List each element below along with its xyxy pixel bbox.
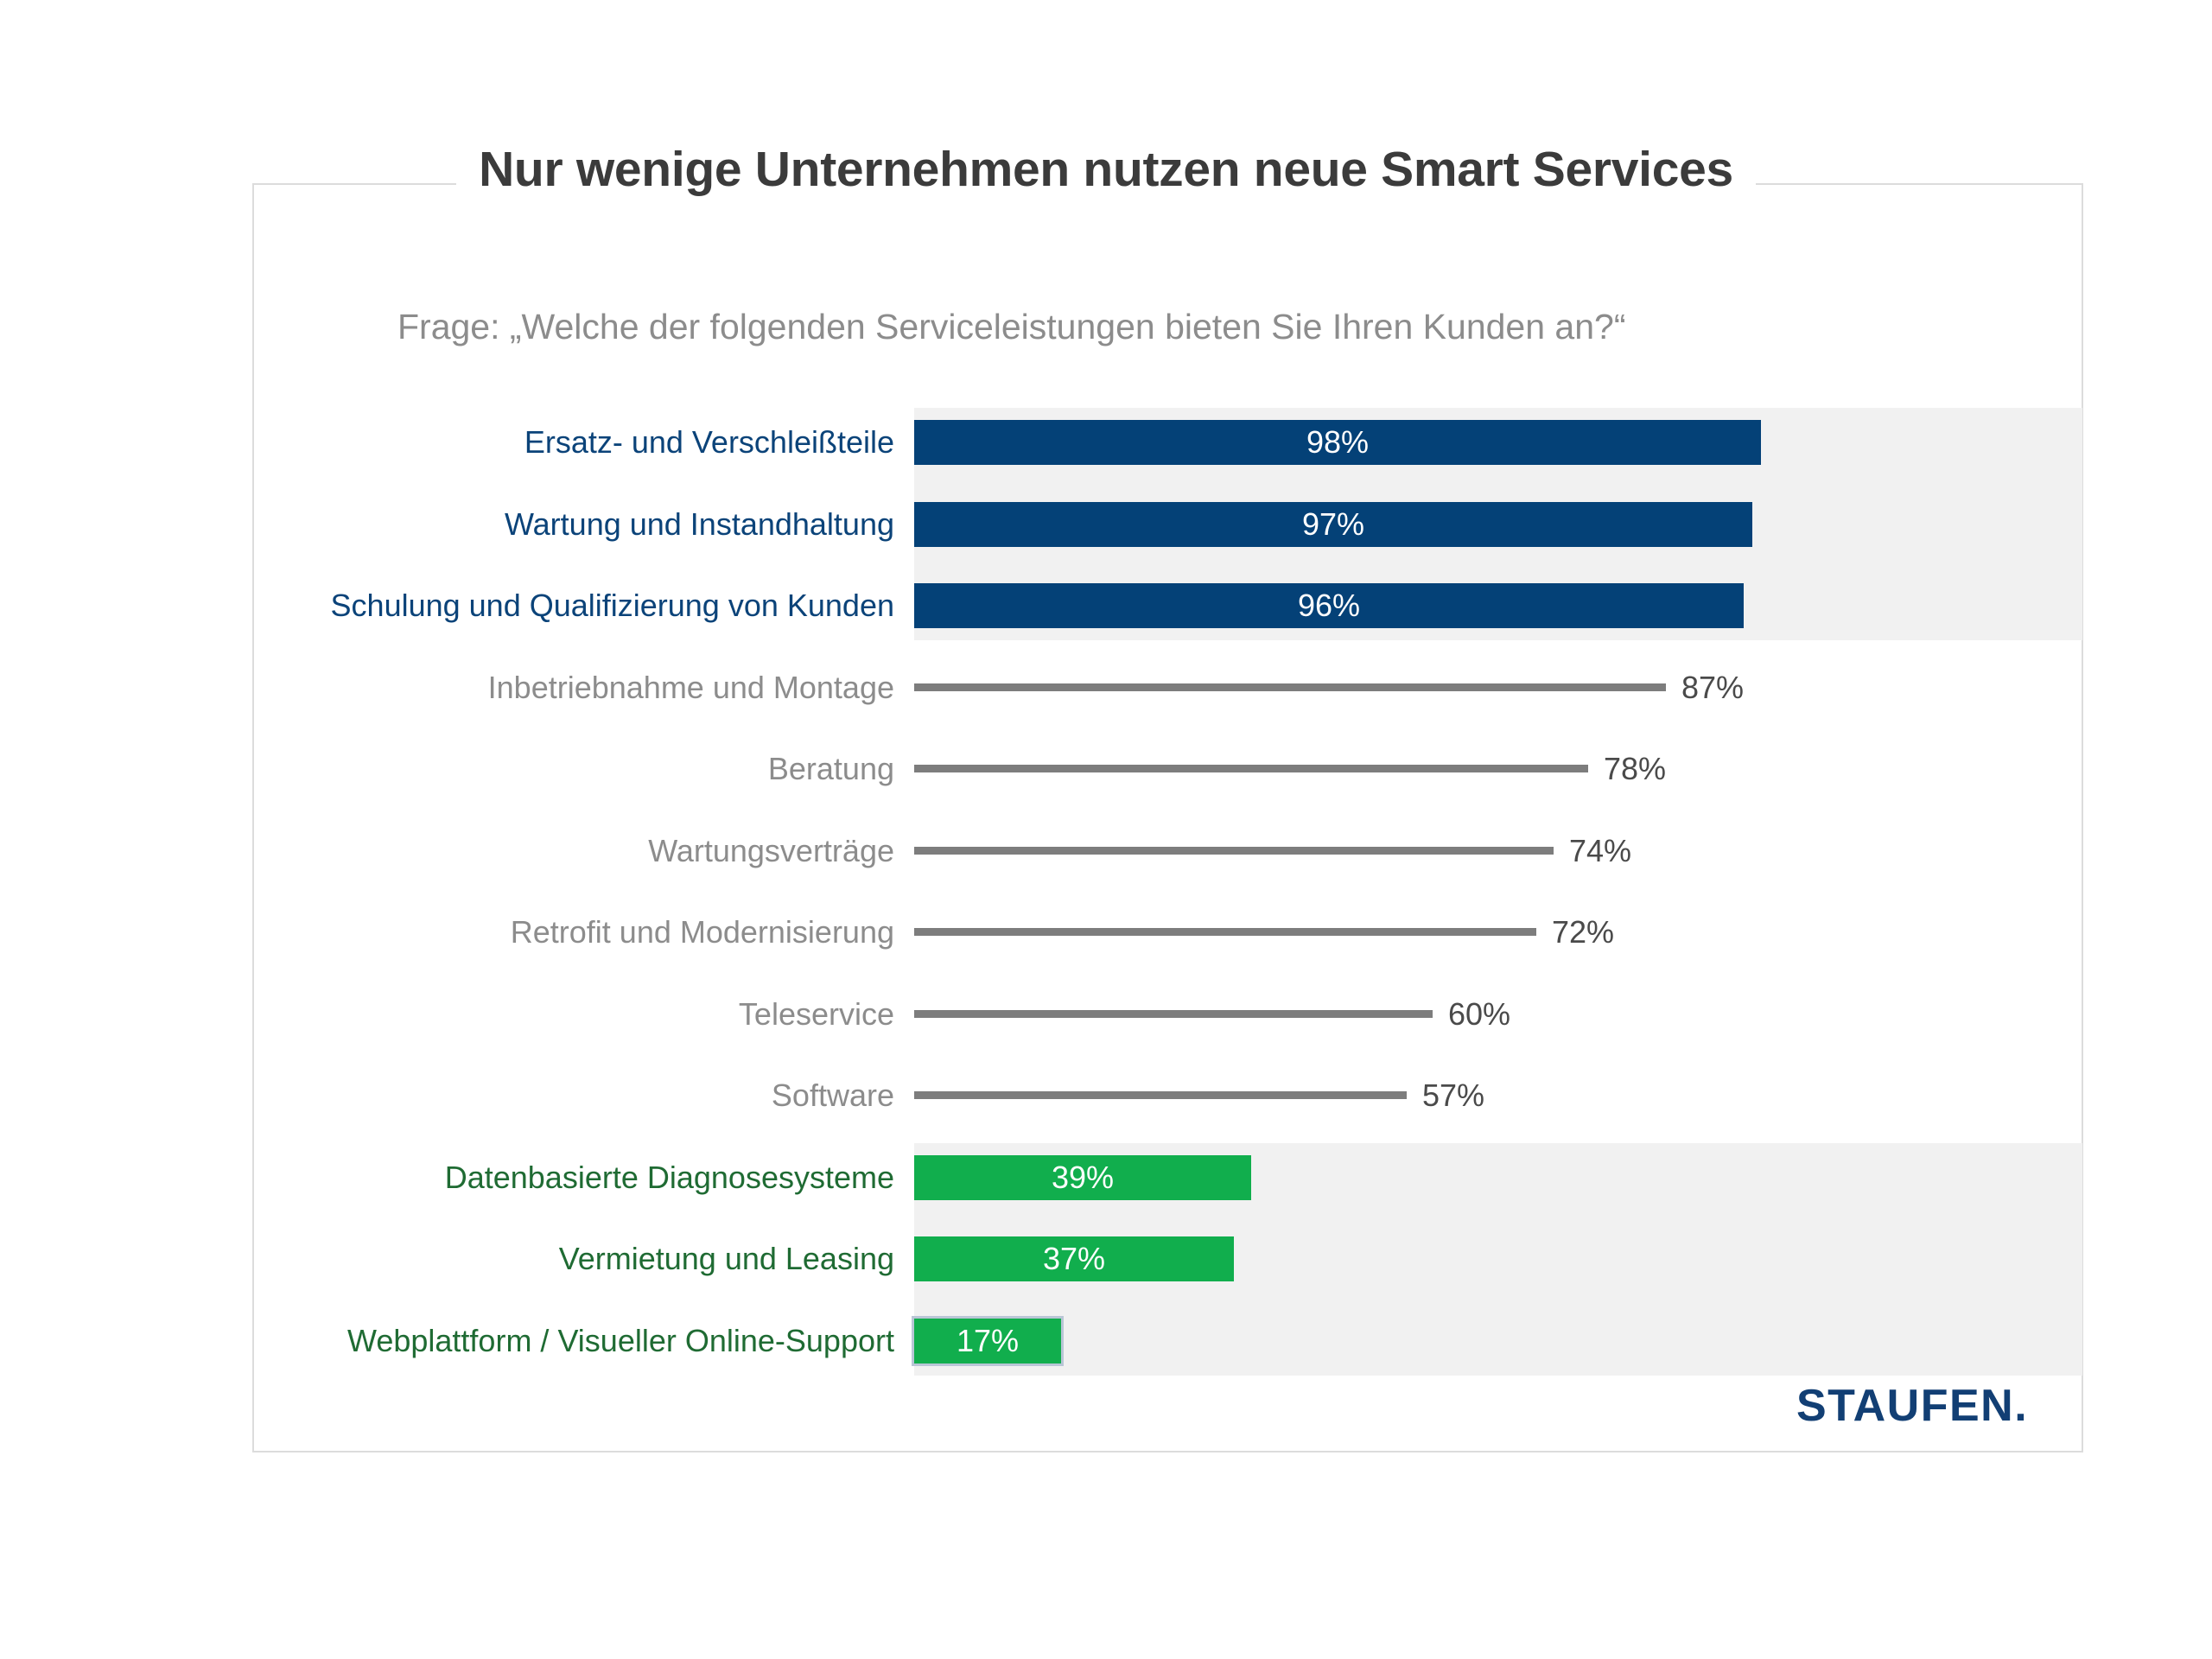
value-label: 98%: [914, 420, 1761, 465]
value-bar[interactable]: 98%: [914, 420, 1761, 465]
value-line: [914, 1091, 1407, 1099]
chart-row[interactable]: Inbetriebnahme und Montage87%: [0, 660, 2212, 715]
category-label: Vermietung und Leasing: [0, 1231, 894, 1287]
category-label: Beratung: [0, 741, 894, 797]
staufen-logo: STAUFEN.: [1796, 1380, 2028, 1432]
value-line: [914, 765, 1588, 772]
value-bar[interactable]: 17%: [914, 1319, 1061, 1363]
category-label: Webplattform / Visueller Online-Support: [0, 1313, 894, 1369]
chart-row[interactable]: Datenbasierte Diagnosesysteme39%: [0, 1150, 2212, 1205]
value-bar[interactable]: 97%: [914, 502, 1752, 547]
category-label: Retrofit und Modernisierung: [0, 905, 894, 960]
category-label: Software: [0, 1068, 894, 1123]
value-bar[interactable]: 39%: [914, 1155, 1251, 1200]
value-label: 78%: [1604, 741, 1666, 797]
category-label: Wartungsverträge: [0, 823, 894, 879]
value-label: 96%: [914, 583, 1744, 628]
value-line: [914, 1010, 1433, 1018]
value-bar[interactable]: 96%: [914, 583, 1744, 628]
value-label: 74%: [1569, 823, 1631, 879]
value-line: [914, 847, 1554, 855]
category-label: Ersatz- und Verschleißteile: [0, 415, 894, 470]
chart-row[interactable]: Webplattform / Visueller Online-Support1…: [0, 1313, 2212, 1369]
chart-row[interactable]: Beratung78%: [0, 741, 2212, 797]
value-label: 72%: [1552, 905, 1614, 960]
chart-row[interactable]: Teleservice60%: [0, 987, 2212, 1042]
value-label: 87%: [1681, 660, 1744, 715]
chart-row[interactable]: Wartung und Instandhaltung97%: [0, 497, 2212, 552]
value-label: 57%: [1422, 1068, 1484, 1123]
chart-row[interactable]: Schulung und Qualifizierung von Kunden96…: [0, 578, 2212, 633]
value-line: [914, 683, 1666, 691]
category-label: Inbetriebnahme und Montage: [0, 660, 894, 715]
category-label: Teleservice: [0, 987, 894, 1042]
category-label: Wartung und Instandhaltung: [0, 497, 894, 552]
category-label: Schulung und Qualifizierung von Kunden: [0, 578, 894, 633]
value-label: 97%: [914, 502, 1752, 547]
value-label: 60%: [1448, 987, 1510, 1042]
chart-row[interactable]: Retrofit und Modernisierung72%: [0, 905, 2212, 960]
value-label: 17%: [914, 1319, 1061, 1363]
slide-canvas: Nur wenige Unternehmen nutzen neue Smart…: [0, 0, 2212, 1659]
chart-row[interactable]: Wartungsverträge74%: [0, 823, 2212, 879]
chart-row[interactable]: Ersatz- und Verschleißteile98%: [0, 415, 2212, 470]
value-line: [914, 928, 1536, 936]
value-bar[interactable]: 37%: [914, 1236, 1234, 1281]
value-label: 37%: [914, 1236, 1234, 1281]
chart-row[interactable]: Vermietung und Leasing37%: [0, 1231, 2212, 1287]
category-label: Datenbasierte Diagnosesysteme: [0, 1150, 894, 1205]
value-label: 39%: [914, 1155, 1251, 1200]
chart-row[interactable]: Software57%: [0, 1068, 2212, 1123]
